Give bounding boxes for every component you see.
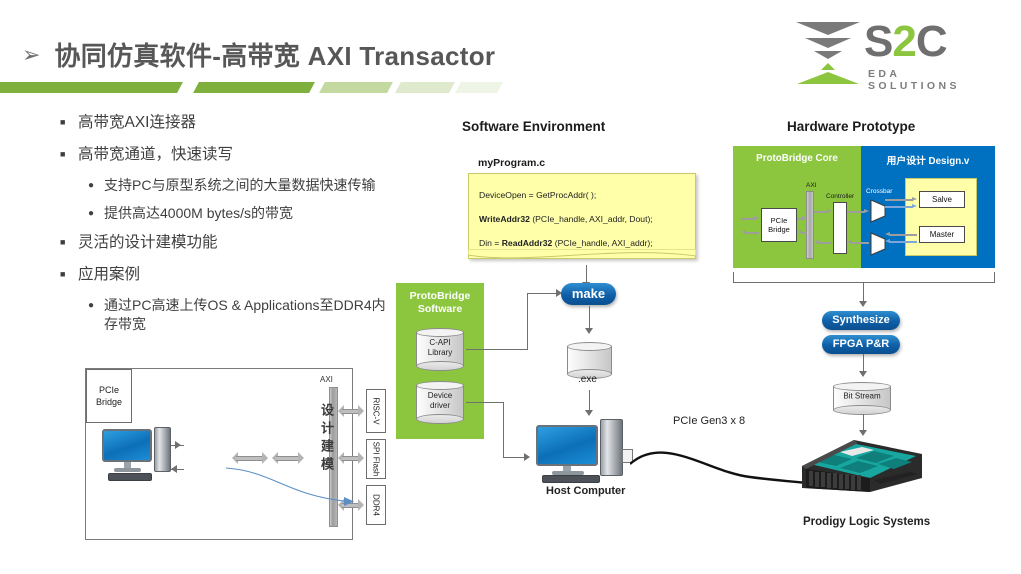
s2c-logo: S2C EDA SOLUTIONS	[796, 18, 991, 86]
code-fn-write: WriteAddr32	[479, 214, 530, 224]
protobridge-core-title: ProtoBridge Core	[733, 153, 861, 164]
logo-letter-2: 2	[892, 17, 915, 66]
cyl-line1: Device	[428, 391, 452, 400]
bullet-text: 应用案例	[78, 264, 140, 285]
bitstream-label: Bit Stream	[833, 391, 891, 401]
cyl-line1: C-API	[429, 338, 450, 347]
s2c-logo-wordmark: S2C	[864, 20, 947, 64]
code-fn-read: ReadAddr32	[502, 238, 553, 248]
make-label: make	[572, 286, 605, 301]
spi-flash-label: SPI Flash	[372, 442, 381, 477]
slide-root: ➢ 协同仿真软件-高带宽 AXI Transactor S2C EDA SOLU…	[0, 0, 1021, 574]
c-api-library-cylinder: C-API Library	[416, 328, 464, 366]
bullet-marker-icon: ●	[88, 176, 104, 195]
ddr4-block: DDR4	[366, 485, 386, 525]
slave-box: Salve	[919, 191, 965, 208]
bullet-text: 灵活的设计建模功能	[78, 232, 218, 253]
pcie-cable	[630, 440, 820, 500]
hw-axi-label: AXI	[806, 182, 816, 189]
pcie-bridge-box: PCIeBridge	[86, 369, 132, 423]
spi-flash-block: SPI Flash	[366, 439, 386, 479]
protobridge-title-line1: ProtoBridge	[410, 290, 471, 302]
bullet-marker-icon: ●	[88, 204, 104, 223]
design-modeling-diagram: AXI PCIeBridge RISC-V SPI Flash	[85, 368, 353, 540]
code-text: (PCIe_handle, AXI_addr);	[552, 238, 652, 248]
bullet-text: 支持PC与原型系统之间的大量数据快速传输	[104, 176, 375, 195]
fpga-pnr-label: FPGA P&R	[833, 338, 889, 350]
myprogram-file-label: myProgram.c	[478, 157, 545, 169]
axi-bus-label: AXI	[320, 375, 333, 384]
device-driver-cylinder: Device driver	[416, 381, 464, 419]
bullet-marker-icon: ■	[60, 112, 78, 133]
master-label: Master	[930, 230, 954, 239]
list-item: ■ 高带宽通道，快速读写	[60, 144, 390, 165]
bullet-list: ■ 高带宽AXI连接器 ■ 高带宽通道，快速读写 ● 支持PC与原型系统之间的大…	[60, 112, 390, 343]
title-arrow-icon: ➢	[22, 44, 40, 66]
exe-cylinder	[567, 342, 612, 374]
bullet-text: 提供高达4000M bytes/s的带宽	[104, 204, 293, 223]
hw-axi-bus	[806, 191, 814, 259]
riscv-block: RISC-V	[366, 389, 386, 433]
synthesize-button[interactable]: Synthesize	[822, 311, 900, 330]
page-title: ➢ 协同仿真软件-高带宽 AXI Transactor	[22, 36, 495, 73]
c-api-library-label: C-API Library	[416, 338, 464, 358]
bidirectional-arrow	[272, 452, 304, 464]
protobridge-software-title: ProtoBridge Software	[396, 290, 484, 316]
hardware-prototype-title: Hardware Prototype	[787, 119, 915, 134]
bidirectional-arrow	[338, 452, 364, 464]
pc-illustration	[100, 427, 172, 485]
s2c-logo-tagline: EDA SOLUTIONS	[868, 68, 991, 92]
bullet-marker-icon: ■	[60, 264, 78, 285]
hw-pcie-bridge-box: PCIeBridge	[761, 208, 797, 242]
hw-crossbar-label: Crossbar	[866, 188, 892, 195]
master-box: Master	[919, 226, 965, 243]
list-item: ■ 高带宽AXI连接器	[60, 112, 390, 133]
device-driver-label: Device driver	[416, 391, 464, 411]
crossbar-mux-bottom-icon	[870, 232, 886, 256]
cyl-line2: driver	[430, 401, 450, 410]
cyl-line2: Library	[428, 348, 452, 357]
make-button[interactable]: make	[561, 283, 616, 305]
pcie-link-label: PCIe Gen3 x 8	[673, 415, 745, 427]
bitstream-cylinder: Bit Stream	[833, 382, 891, 410]
bullet-text: 高带宽AXI连接器	[78, 112, 196, 133]
exe-label: .exe	[578, 374, 597, 385]
hw-controller-label: Controller	[826, 193, 854, 200]
ddr4-label: DDR4	[372, 494, 381, 516]
bidirectional-arrow	[338, 405, 364, 417]
list-item: ■ 灵活的设计建模功能	[60, 232, 390, 253]
slave-label: Salve	[932, 195, 952, 204]
list-item: ● 提供高达4000M bytes/s的带宽	[88, 204, 390, 223]
title-text: 协同仿真软件-高带宽 AXI Transactor	[54, 36, 495, 73]
bullet-text: 高带宽通道，快速读写	[78, 144, 233, 165]
logo-letter-s: S	[864, 17, 892, 66]
design-inner-region	[905, 178, 977, 256]
code-note-card: DeviceOpen = GetProcAddr( ); WriteAddr32…	[468, 173, 696, 259]
code-line: Din = ReadAddr32 (PCIe_handle, AXI_addr)…	[479, 238, 653, 248]
list-item: ■ 应用案例	[60, 264, 390, 285]
hardware-scope-bracket	[733, 272, 995, 283]
bullet-marker-icon: ●	[88, 296, 104, 334]
prodigy-logic-system-illustration	[800, 434, 924, 496]
hw-controller-box	[833, 202, 847, 254]
code-text: (PCIe_handle, AXI_addr, Dout);	[530, 214, 653, 224]
s2c-logo-mark-icon	[796, 22, 860, 84]
protobridge-title-line2: Software	[418, 303, 462, 315]
code-line: DeviceOpen = GetProcAddr( );	[479, 190, 596, 200]
note-torn-edge	[468, 249, 696, 265]
synthesize-label: Synthesize	[832, 314, 889, 326]
ddr4-path-curve	[226, 465, 356, 510]
code-line: WriteAddr32 (PCIe_handle, AXI_addr, Dout…	[479, 214, 653, 224]
hardware-prototype-panel: ProtoBridge Core 用户设计 Design.v PCIeBridg…	[733, 146, 995, 268]
crossbar-mux-top-icon	[870, 199, 886, 223]
bidirectional-arrow	[232, 452, 268, 464]
riscv-label: RISC-V	[372, 397, 381, 424]
prodigy-logic-system-label: Prodigy Logic Systems	[803, 516, 930, 528]
bullet-marker-icon: ■	[60, 144, 78, 165]
list-item: ● 支持PC与原型系统之间的大量数据快速传输	[88, 176, 390, 195]
host-computer-illustration	[534, 419, 644, 481]
bullet-text: 通过PC高速上传OS & Applications至DDR4内存带宽	[104, 296, 390, 334]
host-computer-label: Host Computer	[546, 485, 625, 497]
software-environment-title: Software Environment	[462, 119, 605, 134]
title-underline-decoration	[0, 82, 540, 93]
code-text: Din =	[479, 238, 502, 248]
bullet-marker-icon: ■	[60, 232, 78, 253]
list-item: ● 通过PC高速上传OS & Applications至DDR4内存带宽	[88, 296, 390, 334]
fpga-pnr-button[interactable]: FPGA P&R	[822, 335, 900, 354]
user-design-title: 用户设计 Design.v	[861, 153, 995, 167]
code-text: DeviceOpen = GetProcAddr( );	[479, 190, 596, 200]
design-modeling-vertical-label: 设计建模	[317, 403, 336, 475]
logo-letter-c: C	[916, 17, 947, 66]
protobridge-software-panel: ProtoBridge Software C-API Library Devic…	[396, 283, 484, 439]
